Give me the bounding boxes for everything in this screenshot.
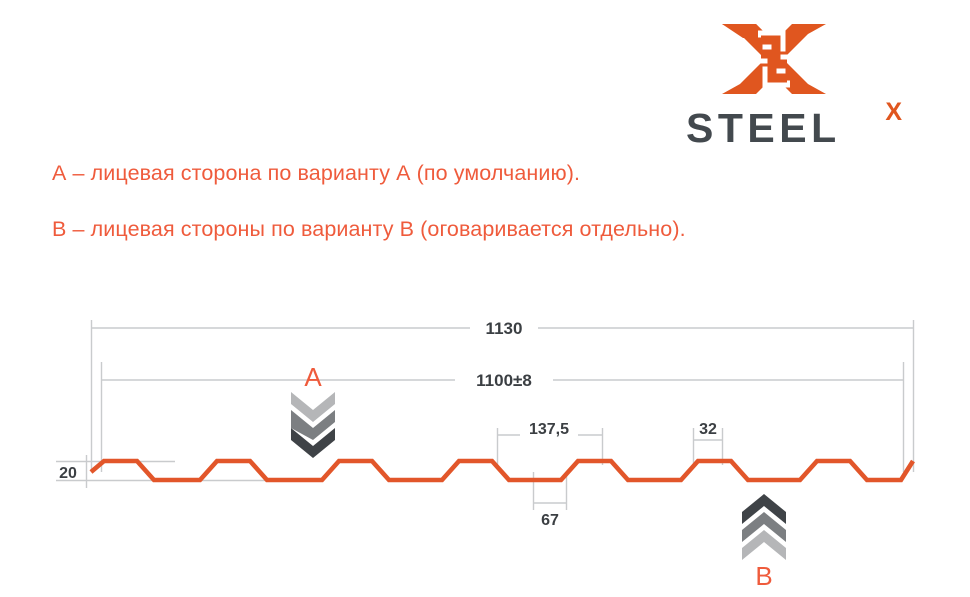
face-variant-a-marker: A	[291, 362, 335, 458]
dim-label-1130: 1130	[486, 319, 523, 338]
brand-wordmark-text: STEEL	[686, 105, 841, 151]
brand-logo: STEEL X	[686, 18, 904, 148]
steelx-x-mark-icon	[720, 18, 828, 100]
marker-a-letter: A	[304, 362, 322, 392]
marker-b-letter: B	[755, 561, 772, 591]
dim-label-1375: 137,5	[529, 421, 569, 438]
face-variant-b-marker: B	[742, 494, 786, 591]
brand-wordmark: STEEL X	[686, 106, 904, 150]
sheet-profile-path	[91, 461, 913, 480]
screenshot-root: STEEL X А – лицевая сторона по варианту …	[0, 0, 970, 597]
dim-label-1100: 1100±8	[476, 371, 532, 390]
marker-b-chevrons	[742, 494, 786, 560]
brand-wordmark-superscript: X	[885, 100, 902, 125]
profile-technical-drawing: 1130 1100±8 137,5 32 67 20 A B	[0, 300, 970, 597]
note-variant-a: А – лицевая сторона по варианту А (по ум…	[52, 161, 580, 186]
dim-label-32: 32	[699, 421, 717, 438]
dim-label-20: 20	[59, 465, 77, 482]
note-variant-b: В – лицевая стороны по варианту В (огова…	[52, 217, 686, 242]
dim-label-67: 67	[541, 512, 559, 529]
marker-a-chevrons	[291, 392, 335, 458]
